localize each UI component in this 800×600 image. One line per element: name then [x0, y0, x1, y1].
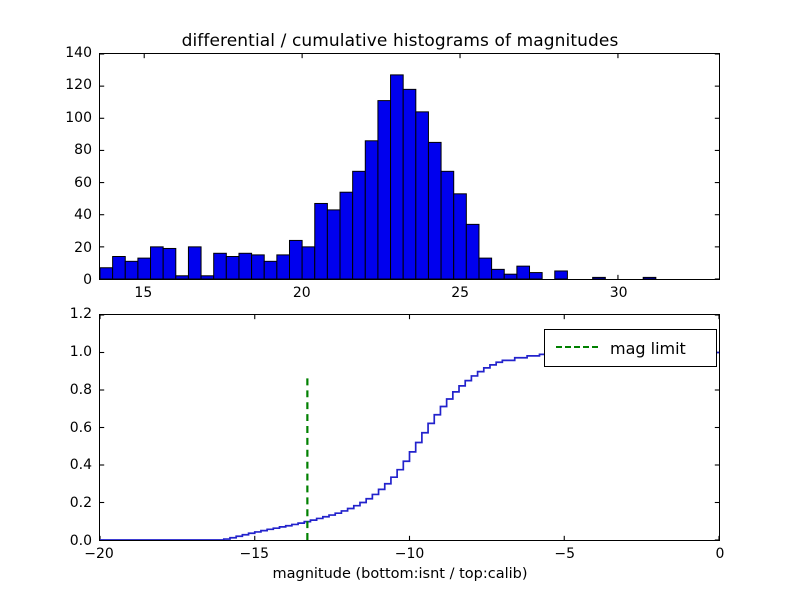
ytick-label: 0.0: [70, 533, 92, 549]
figure-canvas: differential / cumulative histograms of …: [0, 0, 800, 600]
ytick-label: 80: [74, 142, 92, 158]
ytick-label: 120: [65, 77, 92, 93]
mag-limit-line-icon: [556, 346, 598, 350]
ytick-label: 100: [65, 110, 92, 126]
ytick-label: 40: [74, 207, 92, 223]
ytick-label: 1.2: [70, 306, 92, 322]
xtick-label: 15: [134, 285, 152, 301]
ytick-label: 0.6: [70, 420, 92, 436]
figure-title: differential / cumulative histograms of …: [0, 31, 800, 51]
ytick-label: 60: [74, 175, 92, 191]
legend-box[interactable]: mag limit: [544, 329, 717, 367]
ytick-label: 140: [65, 45, 92, 61]
xtick-label: 0: [716, 546, 725, 562]
xtick-label: −10: [395, 546, 425, 562]
xtick-label: −15: [239, 546, 269, 562]
xtick-label: −5: [554, 546, 575, 562]
ytick-label: 0.4: [70, 457, 92, 473]
differential-histogram-plot: [100, 54, 719, 279]
ytick-label: 0.8: [70, 382, 92, 398]
xtick-label: 25: [451, 285, 469, 301]
xtick-label: 30: [610, 285, 628, 301]
ytick-label: 20: [74, 240, 92, 256]
figure-xlabel: magnitude (bottom:isnt / top:calib): [0, 566, 800, 582]
ytick-label: 0.2: [70, 495, 92, 511]
ytick-label: 0: [83, 272, 92, 288]
xtick-label: 20: [293, 285, 311, 301]
ytick-label: 1.0: [70, 344, 92, 360]
legend-entry-label: mag limit: [610, 339, 686, 358]
differential-histogram-axes: [99, 53, 720, 280]
